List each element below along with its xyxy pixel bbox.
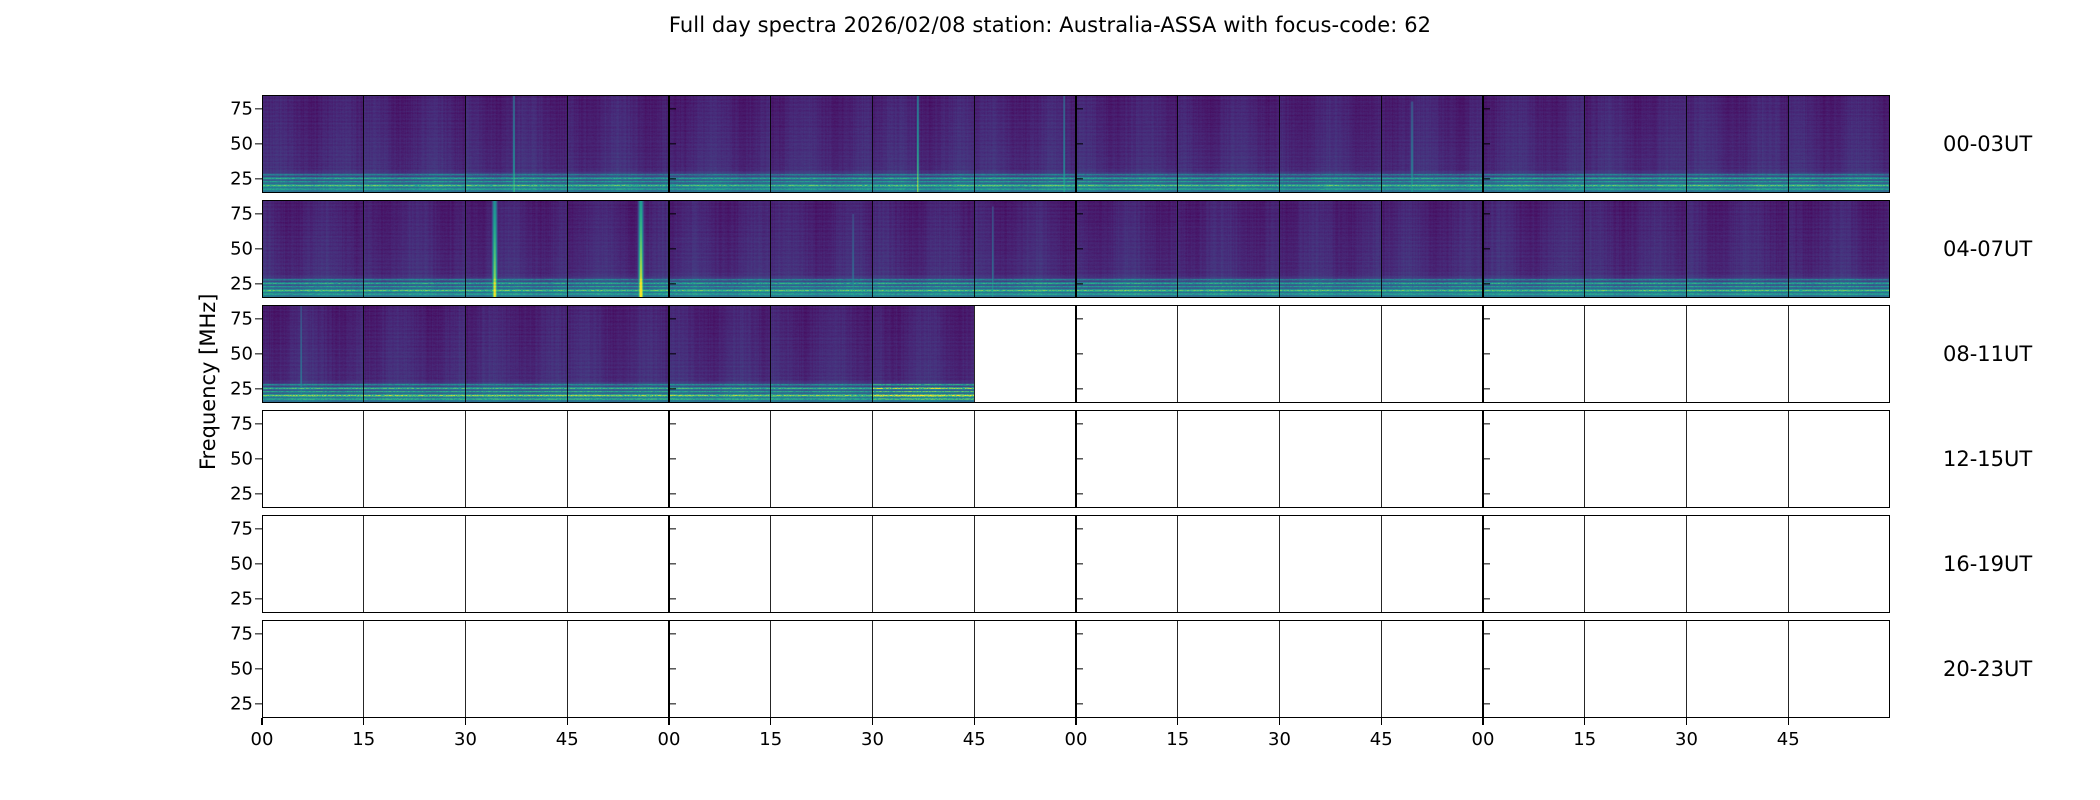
- y-tick-mark: [255, 248, 262, 249]
- y-tick-mark-inner: [669, 213, 676, 214]
- spectrogram-cell: [1178, 95, 1280, 193]
- spectrogram-cell: [669, 410, 771, 508]
- x-tick-mark: [363, 718, 364, 725]
- spectrogram-cell: [974, 200, 1076, 298]
- spectrogram-image: [771, 200, 873, 298]
- spectrogram-cell: [1483, 95, 1585, 193]
- y-tick-mark-inner: [1483, 563, 1490, 564]
- spectrogram-cell: [1687, 200, 1789, 298]
- spectrogram-cell: [1178, 200, 1280, 298]
- spectrogram-image: [1178, 200, 1280, 298]
- spectrogram-cell: [364, 95, 466, 193]
- spectrogram-cell: [1076, 515, 1178, 613]
- spectrogram-cell: [1483, 620, 1585, 718]
- spectrogram-image: [771, 305, 873, 403]
- cell-divider: [1279, 95, 1280, 193]
- y-tick-mark-inner: [1076, 143, 1083, 144]
- cell-divider: [1381, 410, 1382, 508]
- y-tick-mark-inner: [1483, 703, 1490, 704]
- spectrogram-image: [1381, 95, 1483, 193]
- spectrogram-cell: [1585, 95, 1687, 193]
- y-tick-mark-inner: [669, 248, 676, 249]
- y-tick-mark-inner: [1076, 318, 1083, 319]
- cell-divider: [465, 200, 466, 298]
- y-tick-mark: [255, 283, 262, 284]
- cell-divider: [974, 95, 975, 193]
- spectrogram-cell: [1483, 410, 1585, 508]
- cell-divider: [363, 410, 364, 508]
- spectrogram-row-12-15ut[interactable]: 755025: [262, 410, 1890, 508]
- y-tick-mark-inner: [669, 423, 676, 424]
- cell-divider: [1686, 410, 1687, 508]
- spectrogram-row-16-19ut[interactable]: 755025: [262, 515, 1890, 613]
- cell-divider: [1381, 200, 1382, 298]
- cell-divider: [363, 305, 364, 403]
- spectrogram-cell: [1585, 200, 1687, 298]
- cell-divider: [567, 200, 568, 298]
- y-tick-mark-inner: [669, 703, 676, 704]
- spectrogram-image: [1076, 200, 1178, 298]
- spectrogram-image: [1483, 200, 1585, 298]
- x-tick-mark: [974, 718, 975, 725]
- spectrogram-cell: [1178, 305, 1280, 403]
- y-tick-mark-inner: [669, 143, 676, 144]
- y-tick-mark-inner: [1076, 703, 1083, 704]
- cell-divider: [872, 95, 873, 193]
- y-tick-mark-inner: [1483, 248, 1490, 249]
- spectrogram-image: [1585, 200, 1687, 298]
- spectrogram-cell: [364, 200, 466, 298]
- spectrogram-figure: Full day spectra 2026/02/08 station: Aus…: [0, 0, 2100, 800]
- y-tick-mark-inner: [1483, 598, 1490, 599]
- y-tick-mark-inner: [1076, 598, 1083, 599]
- spectrogram-cell: [1483, 515, 1585, 613]
- cell-divider: [1788, 620, 1789, 718]
- y-tick-mark: [255, 598, 262, 599]
- cell-divider: [974, 620, 975, 718]
- cell-divider: [363, 620, 364, 718]
- cell-divider: [1279, 515, 1280, 613]
- spectrogram-cell: [466, 305, 568, 403]
- spectrogram-cell: [771, 200, 873, 298]
- cell-divider: [363, 515, 364, 613]
- y-tick-mark-inner: [1483, 633, 1490, 634]
- y-tick-mark-inner: [669, 668, 676, 669]
- x-tick-mark: [261, 718, 262, 725]
- spectrogram-image: [974, 95, 1076, 193]
- spectrogram-image: [1585, 95, 1687, 193]
- spectrogram-cell: [1585, 410, 1687, 508]
- spectrogram-image: [262, 305, 364, 403]
- spectrogram-cell: [974, 95, 1076, 193]
- cell-divider: [872, 620, 873, 718]
- y-tick-mark-inner: [1076, 353, 1083, 354]
- spectrogram-image: [669, 305, 771, 403]
- spectrogram-image: [364, 200, 466, 298]
- x-tick-label: 30: [454, 729, 477, 750]
- y-tick-mark-inner: [669, 178, 676, 179]
- spectrogram-image: [567, 305, 669, 403]
- row-label-08-11ut: 08-11UT: [1943, 342, 2032, 366]
- spectrogram-cell: [1076, 305, 1178, 403]
- spectrogram-cell: [873, 305, 975, 403]
- cell-divider: [567, 410, 568, 508]
- x-tick-mark: [1381, 718, 1382, 725]
- x-tick-label: 15: [1166, 729, 1189, 750]
- spectrogram-cell: [364, 410, 466, 508]
- y-tick-mark-inner: [1483, 528, 1490, 529]
- x-tick-label: 00: [1065, 729, 1088, 750]
- y-tick-mark: [255, 388, 262, 389]
- cell-divider: [1381, 95, 1382, 193]
- spectrogram-image: [1687, 200, 1789, 298]
- spectrogram-image: [771, 95, 873, 193]
- spectrogram-cell: [1381, 200, 1483, 298]
- spectrogram-image: [873, 305, 975, 403]
- spectrogram-cell: [1788, 410, 1890, 508]
- x-tick-mark: [1177, 718, 1178, 725]
- x-tick-mark: [1279, 718, 1280, 725]
- cell-divider: [974, 305, 975, 403]
- spectrogram-image: [567, 95, 669, 193]
- spectrogram-cell: [1280, 620, 1382, 718]
- spectrogram-cell: [1280, 95, 1382, 193]
- cell-divider: [770, 515, 771, 613]
- y-tick-mark: [255, 633, 262, 634]
- cell-divider: [770, 620, 771, 718]
- y-tick-mark-inner: [1076, 178, 1083, 179]
- cell-divider: [1177, 200, 1178, 298]
- cell-divider: [1279, 410, 1280, 508]
- x-tick-label: 45: [1777, 729, 1800, 750]
- y-tick-mark: [255, 668, 262, 669]
- spectrogram-cell: [771, 95, 873, 193]
- spectrogram-cell: [1585, 515, 1687, 613]
- y-tick-mark-inner: [1076, 458, 1083, 459]
- spectrogram-row-08-11ut[interactable]: 755025: [262, 305, 1890, 403]
- spectrogram-cell: [873, 410, 975, 508]
- y-tick-mark-inner: [669, 283, 676, 284]
- cell-divider: [1788, 410, 1789, 508]
- cell-divider: [1584, 410, 1585, 508]
- y-tick-mark: [255, 528, 262, 529]
- spectrogram-cell: [1178, 515, 1280, 613]
- cell-divider: [770, 200, 771, 298]
- y-tick-mark: [255, 213, 262, 214]
- spectrogram-cell: [669, 95, 771, 193]
- cell-divider: [770, 410, 771, 508]
- row-label-16-19ut: 16-19UT: [1943, 552, 2032, 576]
- spectrogram-cell: [1280, 515, 1382, 613]
- cell-divider: [1177, 95, 1178, 193]
- spectrogram-cell: [1280, 410, 1382, 508]
- x-tick-mark: [872, 718, 873, 725]
- y-tick-mark-inner: [1483, 318, 1490, 319]
- spectrogram-cell: [1687, 515, 1789, 613]
- y-tick-mark-inner: [1483, 178, 1490, 179]
- spectrogram-cell: [1076, 620, 1178, 718]
- y-tick-mark: [255, 423, 262, 424]
- y-tick-mark: [255, 563, 262, 564]
- y-tick-mark-inner: [1076, 528, 1083, 529]
- cell-divider: [465, 95, 466, 193]
- spectrogram-image: [974, 200, 1076, 298]
- spectrogram-image: [466, 305, 568, 403]
- x-tick-mark: [668, 718, 669, 725]
- spectrogram-cell: [466, 95, 568, 193]
- y-tick-mark-inner: [1483, 458, 1490, 459]
- cell-divider: [1381, 305, 1382, 403]
- cell-divider: [1788, 515, 1789, 613]
- x-tick-mark: [567, 718, 568, 725]
- x-tick-label: 45: [556, 729, 579, 750]
- spectrogram-cell: [1788, 95, 1890, 193]
- y-tick-mark-inner: [1076, 668, 1083, 669]
- spectrogram-cell: [1076, 200, 1178, 298]
- x-tick-label: 30: [861, 729, 884, 750]
- cell-divider: [1686, 620, 1687, 718]
- cell-divider: [770, 95, 771, 193]
- cell-divider: [1686, 305, 1687, 403]
- y-tick-mark-inner: [1483, 493, 1490, 494]
- cell-divider: [1381, 515, 1382, 613]
- x-tick-mark: [1482, 718, 1483, 725]
- x-tick-mark: [770, 718, 771, 725]
- y-tick-mark-inner: [1483, 143, 1490, 144]
- spectrogram-cell: [974, 305, 1076, 403]
- spectrogram-row-20-23ut[interactable]: 755025: [262, 620, 1890, 718]
- spectrogram-cell: [873, 515, 975, 613]
- cell-divider: [465, 515, 466, 613]
- spectrogram-cell: [567, 410, 669, 508]
- spectrogram-cell: [262, 95, 364, 193]
- spectrogram-cell: [364, 305, 466, 403]
- spectrogram-cell: [567, 515, 669, 613]
- y-tick-mark-inner: [669, 353, 676, 354]
- y-tick-mark: [255, 703, 262, 704]
- spectrogram-image: [1483, 95, 1585, 193]
- spectrogram-cell: [1788, 200, 1890, 298]
- spectrogram-cell: [873, 95, 975, 193]
- spectrogram-cell: [262, 620, 364, 718]
- cell-divider: [1686, 200, 1687, 298]
- spectrogram-image: [567, 200, 669, 298]
- y-tick-mark: [255, 493, 262, 494]
- cell-divider: [567, 305, 568, 403]
- spectrogram-cell: [873, 200, 975, 298]
- spectrogram-image: [466, 200, 568, 298]
- spectrogram-image: [1178, 95, 1280, 193]
- x-tick-mark: [465, 718, 466, 725]
- spectrogram-cell: [1381, 95, 1483, 193]
- cell-divider: [1584, 305, 1585, 403]
- spectrogram-cell: [1687, 620, 1789, 718]
- spectrogram-cell: [1178, 620, 1280, 718]
- spectrogram-cell: [567, 200, 669, 298]
- spectrogram-cell: [1585, 305, 1687, 403]
- y-tick-mark: [255, 143, 262, 144]
- cell-divider: [1788, 95, 1789, 193]
- y-tick-mark-inner: [669, 458, 676, 459]
- spectrogram-row-04-07ut[interactable]: 755025: [262, 200, 1890, 298]
- x-tick-label: 00: [1472, 729, 1495, 750]
- y-tick-mark-inner: [1483, 108, 1490, 109]
- spectrogram-image: [1788, 200, 1890, 298]
- x-tick-mark: [1075, 718, 1076, 725]
- y-tick-mark-inner: [1076, 493, 1083, 494]
- x-tick-label: 30: [1268, 729, 1291, 750]
- spectrogram-image: [364, 95, 466, 193]
- cell-divider: [1584, 95, 1585, 193]
- row-label-20-23ut: 20-23UT: [1943, 657, 2032, 681]
- cell-divider: [1686, 95, 1687, 193]
- spectrogram-cell: [1381, 305, 1483, 403]
- spectrogram-cell: [466, 620, 568, 718]
- spectrogram-cell: [262, 200, 364, 298]
- x-tick-label: 45: [963, 729, 986, 750]
- spectrogram-cell: [974, 410, 1076, 508]
- spectrogram-image: [466, 95, 568, 193]
- spectrogram-cell: [1687, 410, 1789, 508]
- spectrogram-image: [873, 200, 975, 298]
- cell-divider: [1788, 200, 1789, 298]
- spectrogram-image: [1076, 95, 1178, 193]
- cell-divider: [872, 515, 873, 613]
- cell-divider: [770, 305, 771, 403]
- spectrogram-cell: [669, 200, 771, 298]
- x-tick-label: 45: [1370, 729, 1393, 750]
- spectrogram-image: [669, 95, 771, 193]
- cell-divider: [567, 515, 568, 613]
- spectrogram-cell: [974, 620, 1076, 718]
- spectrogram-cell: [669, 515, 771, 613]
- spectrogram-cell: [1585, 620, 1687, 718]
- x-tick-mark: [1686, 718, 1687, 725]
- cell-divider: [872, 200, 873, 298]
- cell-divider: [1279, 305, 1280, 403]
- y-tick-mark: [255, 108, 262, 109]
- spectrogram-cell: [262, 305, 364, 403]
- y-tick-mark-inner: [669, 493, 676, 494]
- cell-divider: [1279, 200, 1280, 298]
- cell-divider: [1177, 305, 1178, 403]
- cell-divider: [465, 410, 466, 508]
- y-tick-mark-inner: [1483, 388, 1490, 389]
- spectrogram-cell: [974, 515, 1076, 613]
- y-tick-mark-inner: [669, 528, 676, 529]
- y-tick-mark-inner: [669, 388, 676, 389]
- y-tick-mark-inner: [1076, 633, 1083, 634]
- spectrogram-cell: [364, 515, 466, 613]
- cell-divider: [363, 95, 364, 193]
- cell-divider: [567, 620, 568, 718]
- y-tick-mark-inner: [669, 633, 676, 634]
- spectrogram-cell: [1280, 305, 1382, 403]
- spectrogram-cell: [466, 515, 568, 613]
- y-tick-mark-inner: [1076, 283, 1083, 284]
- y-tick-mark-inner: [669, 318, 676, 319]
- spectrogram-cell: [669, 620, 771, 718]
- spectrogram-cell: [771, 410, 873, 508]
- spectrogram-cell: [1076, 410, 1178, 508]
- y-tick-mark-inner: [1076, 388, 1083, 389]
- spectrogram-cell: [1788, 305, 1890, 403]
- cell-divider: [1279, 620, 1280, 718]
- cell-divider: [974, 200, 975, 298]
- y-tick-mark-inner: [1483, 668, 1490, 669]
- cell-divider: [872, 305, 873, 403]
- spectrogram-image: [262, 95, 364, 193]
- page-title: Full day spectra 2026/02/08 station: Aus…: [0, 13, 2100, 37]
- y-tick-mark-inner: [1483, 283, 1490, 284]
- spectrogram-cell: [364, 620, 466, 718]
- cell-divider: [1177, 515, 1178, 613]
- y-tick-mark: [255, 178, 262, 179]
- cell-divider: [974, 515, 975, 613]
- x-tick-label: 15: [759, 729, 782, 750]
- cell-divider: [1381, 620, 1382, 718]
- y-tick-mark-inner: [1076, 423, 1083, 424]
- cell-divider: [974, 410, 975, 508]
- cell-divider: [1584, 620, 1585, 718]
- spectrogram-cell: [1381, 620, 1483, 718]
- x-tick-mark: [1788, 718, 1789, 725]
- y-tick-mark-inner: [1483, 353, 1490, 354]
- cell-divider: [1584, 515, 1585, 613]
- spectrogram-cell: [1788, 620, 1890, 718]
- spectrogram-cell: [669, 305, 771, 403]
- spectrogram-cell: [466, 200, 568, 298]
- y-tick-mark: [255, 318, 262, 319]
- spectrogram-image: [262, 200, 364, 298]
- spectrogram-cell: [1381, 410, 1483, 508]
- spectrogram-cell: [1483, 200, 1585, 298]
- spectrogram-image: [1280, 200, 1382, 298]
- spectrogram-cell: [567, 620, 669, 718]
- cell-divider: [1177, 620, 1178, 718]
- y-tick-mark-inner: [1076, 248, 1083, 249]
- spectrogram-cell: [1076, 95, 1178, 193]
- x-tick-label: 00: [658, 729, 681, 750]
- spectrogram-cell: [567, 95, 669, 193]
- cell-divider: [1177, 410, 1178, 508]
- cell-divider: [1788, 305, 1789, 403]
- spectrogram-image: [1687, 95, 1789, 193]
- cell-divider: [567, 95, 568, 193]
- cell-divider: [363, 200, 364, 298]
- spectrogram-cell: [1687, 95, 1789, 193]
- y-tick-mark-inner: [1076, 108, 1083, 109]
- spectrogram-image: [873, 95, 975, 193]
- spectrogram-cell: [466, 410, 568, 508]
- spectrogram-cell: [771, 620, 873, 718]
- spectrogram-image: [364, 305, 466, 403]
- row-label-04-07ut: 04-07UT: [1943, 237, 2032, 261]
- y-tick-mark-inner: [1483, 213, 1490, 214]
- y-tick-mark-inner: [669, 108, 676, 109]
- y-tick-mark-inner: [1076, 213, 1083, 214]
- y-tick-mark: [255, 458, 262, 459]
- row-label-12-15ut: 12-15UT: [1943, 447, 2032, 471]
- spectrogram-image: [1280, 95, 1382, 193]
- spectrogram-cell: [771, 305, 873, 403]
- cell-divider: [465, 620, 466, 718]
- y-tick-mark-inner: [669, 598, 676, 599]
- spectrogram-cell: [262, 410, 364, 508]
- x-tick-label: 30: [1675, 729, 1698, 750]
- spectrogram-cell: [1483, 305, 1585, 403]
- spectrogram-row-00-03ut[interactable]: 755025: [262, 95, 1890, 193]
